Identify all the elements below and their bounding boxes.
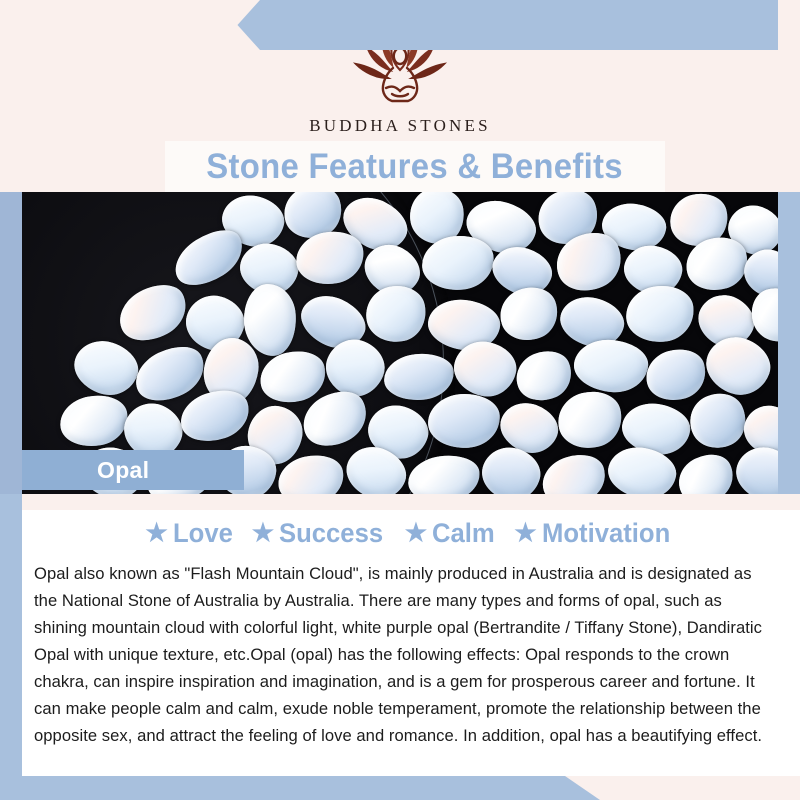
panel-top-stripe [22, 494, 800, 510]
stone-photo [22, 192, 778, 494]
bottom-blue-accent-bar [0, 776, 600, 800]
stone-description: Opal also known as "Flash Mountain Cloud… [34, 560, 776, 749]
benefit-item-success: ★ Success [252, 518, 389, 549]
page-title: Stone Features & Benefits [207, 147, 624, 187]
benefit-label: Success [279, 518, 383, 549]
page-title-band: Stone Features & Benefits [165, 141, 665, 192]
description-panel: ★ Love ★ Success ★ Calm ★ Motivation Opa… [22, 494, 800, 776]
opal-stones-cluster [22, 192, 778, 494]
stone-name: Opal [97, 457, 149, 484]
brand-name: BUDDHA STONES [309, 116, 491, 136]
star-icon: ★ [145, 521, 167, 546]
benefit-item-calm: ★ Calm [405, 518, 498, 549]
star-icon: ★ [405, 521, 427, 546]
left-blue-accent-bar-lower [0, 494, 22, 780]
benefit-label: Calm [432, 518, 495, 549]
benefit-label: Love [173, 518, 233, 549]
left-blue-accent-bar [0, 192, 22, 494]
top-blue-accent-bar [215, 0, 800, 50]
benefit-label: Motivation [542, 518, 670, 549]
star-icon: ★ [514, 521, 536, 546]
benefits-row: ★ Love ★ Success ★ Calm ★ Motivation [22, 518, 800, 549]
stone-name-band: Opal [22, 450, 244, 490]
star-icon: ★ [252, 521, 274, 546]
benefit-item-love: ★ Love [145, 518, 235, 549]
benefit-item-motivation: ★ Motivation [514, 518, 676, 549]
